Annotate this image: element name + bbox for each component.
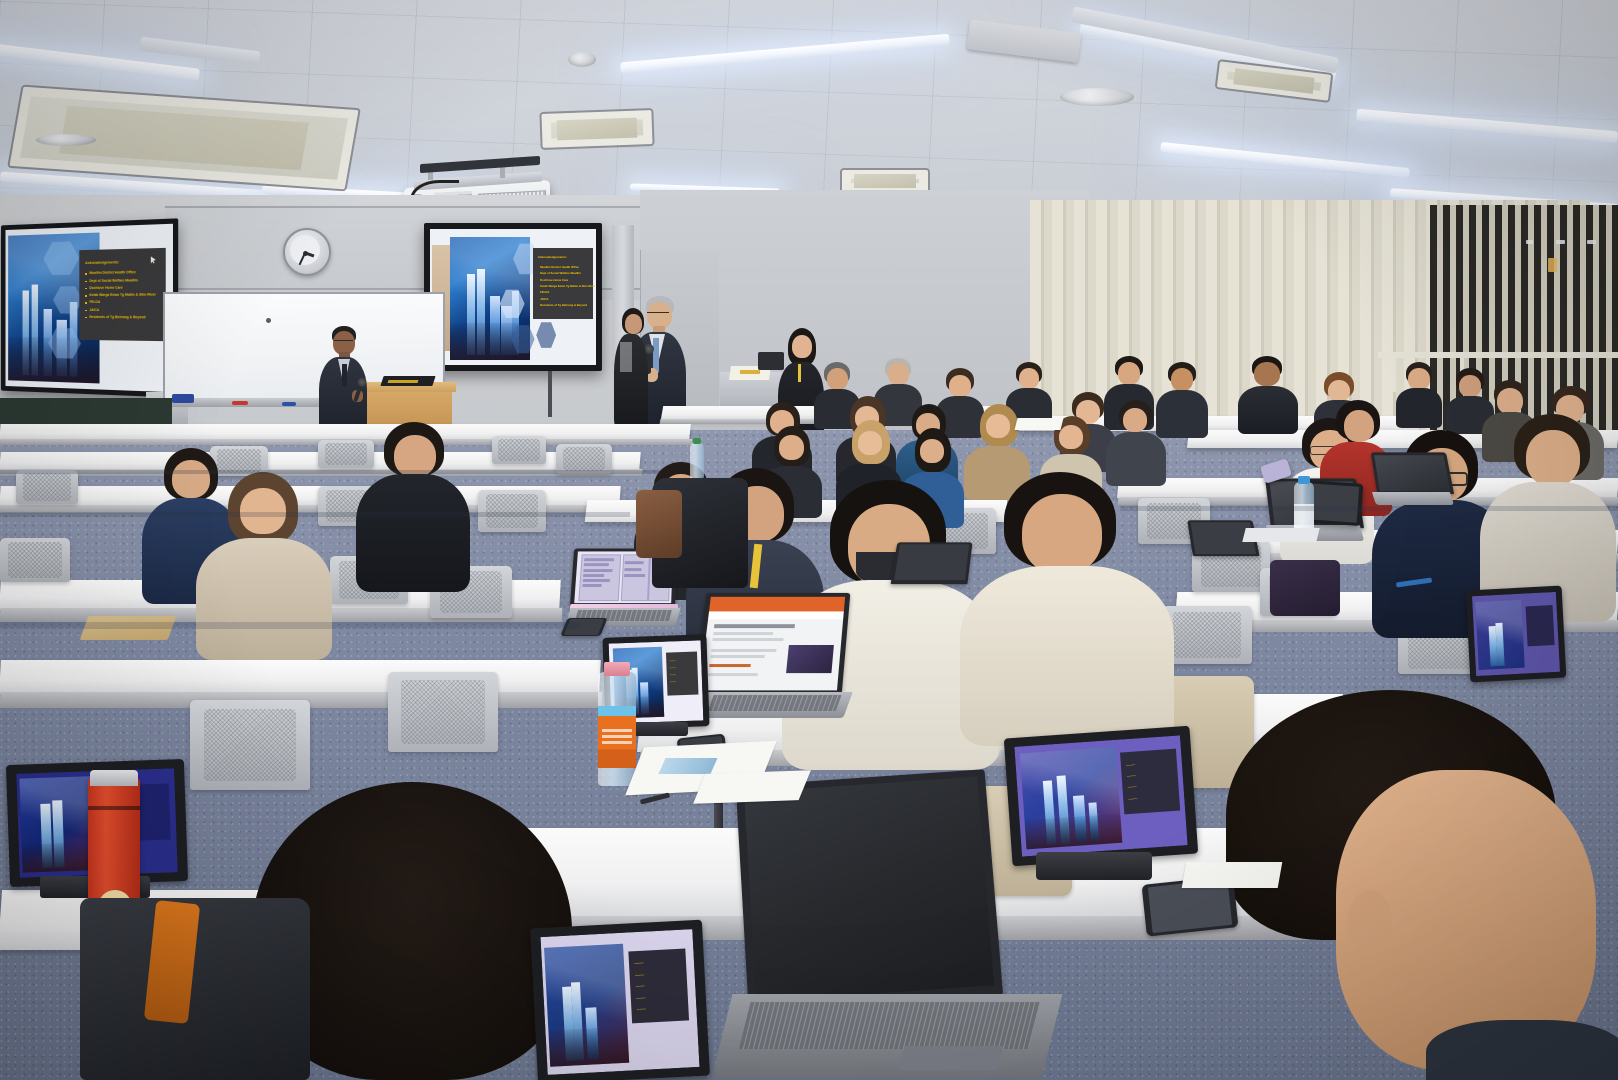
chair-4 xyxy=(492,436,546,464)
chair-1 xyxy=(16,470,78,504)
barley-tea-label-text xyxy=(602,726,632,744)
audience-person-25 xyxy=(356,422,472,584)
laptop-right-2[interactable] xyxy=(1374,452,1454,508)
whiteboard-marker-red xyxy=(232,401,248,405)
smoke-detector-3 xyxy=(36,134,96,146)
handout-4 xyxy=(1015,418,1064,430)
ceiling-air-vent-2 xyxy=(539,108,654,150)
chair-11 xyxy=(190,700,310,790)
clock-center xyxy=(303,251,308,256)
tablet-slide-2-stand xyxy=(1036,852,1152,880)
person-35-ear xyxy=(1348,890,1392,954)
left-projection-screen: Acknowledgements: Muallim District Healt… xyxy=(1,218,178,397)
whiteboard-marker-blue xyxy=(282,402,296,406)
av-console-paper-accent xyxy=(740,370,760,374)
tier-step-2 xyxy=(0,512,630,517)
slide-bullet-c6: Residents of Tg Behrang & Beyond xyxy=(540,303,587,307)
slide-bullet-5: JAICA xyxy=(89,308,99,312)
browser-toolbar xyxy=(709,597,845,612)
center-screen-stand xyxy=(548,371,552,417)
corridor-light-2 xyxy=(1526,240,1533,244)
presenter-lectern-glasses xyxy=(334,340,353,345)
barley-tea-bottle[interactable] xyxy=(598,672,636,786)
handout-1-chart xyxy=(658,758,717,774)
wall-clock xyxy=(283,228,331,276)
tier-step-4 xyxy=(1120,506,1618,511)
browser-thumbnail xyxy=(786,645,834,673)
chair-7 xyxy=(478,490,546,532)
center-projection-screen: Acknowledgements: Muallim District Healt… xyxy=(424,223,602,371)
desk-row-5-b xyxy=(0,660,601,694)
laptop-dark-screen[interactable] xyxy=(744,777,994,1002)
tablet-right-edge[interactable] xyxy=(1466,586,1567,683)
tier-step-1 xyxy=(0,470,660,474)
laptop-right-2-screen[interactable] xyxy=(1374,455,1450,491)
corridor-light-1 xyxy=(1556,240,1565,244)
slide-text-panel-center: Acknowledgements: Muallim District Healt… xyxy=(533,248,593,319)
laptop-browser[interactable] xyxy=(700,592,850,722)
whiteboard-magnet xyxy=(266,318,271,323)
assistant-vest-stripe xyxy=(620,342,632,372)
standing-woman-lanyard xyxy=(798,364,801,382)
slide-bullet-0: Muallim District Health Office xyxy=(89,271,135,276)
bag-right xyxy=(1270,560,1340,616)
chair-12 xyxy=(388,672,498,752)
standing-woman-head xyxy=(792,335,812,358)
tablet-slide-2[interactable]: ——— ——— ——— ——— xyxy=(1004,726,1198,867)
slide-bullet-c0: Muallim District Health Office xyxy=(540,265,579,269)
smoke-detector-2 xyxy=(1060,88,1134,106)
corridor-light-3 xyxy=(1587,240,1596,244)
slide-bullet-4: FELDA xyxy=(89,300,100,304)
notebook-right xyxy=(1242,528,1319,542)
water-bottle-mid[interactable] xyxy=(690,442,704,480)
center-screen-surface: Acknowledgements: Muallim District Healt… xyxy=(430,229,596,365)
slide-bullet-1: Dept of Social Welfare Muallim xyxy=(89,278,138,283)
handout-3 xyxy=(1182,862,1283,888)
red-thermos-band xyxy=(88,806,140,810)
barley-tea-bottle-cap[interactable] xyxy=(604,662,630,676)
slide-mouse-cursor xyxy=(151,256,156,263)
laptop-browser-screen[interactable] xyxy=(699,597,845,691)
slide-bullet-3: Kelab Warga Emas Tg Malim & Slim River xyxy=(89,293,156,297)
slide-bullet-c2: Dochlove Home Care xyxy=(540,278,568,282)
slide-heading-2: Acknowledgements: xyxy=(538,255,567,259)
audience-person-2 xyxy=(1396,362,1444,424)
laptop-mid-row[interactable] xyxy=(894,542,974,596)
smoke-detector-1 xyxy=(568,52,596,67)
slide-left: Acknowledgements: Muallim District Healt… xyxy=(5,224,173,393)
tier-step-3 xyxy=(0,622,580,629)
presenter-lectern-tie xyxy=(342,364,347,386)
slide-bullet-6: Residents of Tg Behrang & Beyond xyxy=(89,315,145,319)
audience-person-29 xyxy=(960,472,1176,740)
tablet-slide-3-screen[interactable]: ——— ——— ——— ——— ——— xyxy=(540,929,699,1075)
slide-heading: Acknowledgements: xyxy=(85,260,119,265)
browser-window xyxy=(699,597,845,691)
railing xyxy=(1378,352,1618,358)
side-blackboard xyxy=(0,398,172,426)
tablet-slide-3[interactable]: ——— ——— ——— ——— ——— xyxy=(530,920,710,1080)
barley-tea-bottle-label xyxy=(598,706,636,768)
assistant-standing xyxy=(612,308,652,434)
slide-bullet-c4: FELDA xyxy=(540,290,549,294)
tablet-right-edge-screen[interactable] xyxy=(1472,592,1560,676)
chair-8 xyxy=(0,538,70,582)
slide-hex-7 xyxy=(536,321,556,348)
tablet-slide-2-screen[interactable]: ——— ——— ——— ——— xyxy=(1014,735,1187,856)
slide-bullet-c1: Dept of Social Welfare Muallim xyxy=(540,271,581,275)
slide-text-panel-left: Acknowledgements: Muallim District Healt… xyxy=(79,248,165,342)
desk-row-2 xyxy=(0,424,691,440)
whiteboard-eraser xyxy=(172,394,194,403)
handout-2 xyxy=(693,770,811,804)
laptop-dark-trackpad[interactable] xyxy=(898,1046,1003,1070)
assistant-head xyxy=(625,314,642,334)
slide-center: Acknowledgements: Muallim District Healt… xyxy=(430,229,596,365)
slide-bullet-2: Dochlove Home Care xyxy=(89,286,122,290)
slide-bullet-c5: JAICA xyxy=(540,297,548,301)
red-thermos-cap[interactable] xyxy=(90,770,138,786)
audience-person-33 xyxy=(1480,414,1618,614)
corridor-light-amber xyxy=(1548,258,1557,272)
slide-bullet-c3: Kelab Warga Emas Tg Malim & Slim River xyxy=(540,284,595,288)
lecture-hall-photo: Acknowledgements: Muallim District Healt… xyxy=(0,0,1618,1080)
left-screen-surface: Acknowledgements: Muallim District Healt… xyxy=(5,224,173,393)
wall-trim-2 xyxy=(165,206,685,208)
handbag-brown xyxy=(636,490,682,558)
clock-face xyxy=(290,235,320,265)
browser-address-bar xyxy=(708,611,844,619)
lectern-laptop-strip xyxy=(388,380,419,383)
audience-person-35-foreground-right xyxy=(1226,690,1618,1080)
